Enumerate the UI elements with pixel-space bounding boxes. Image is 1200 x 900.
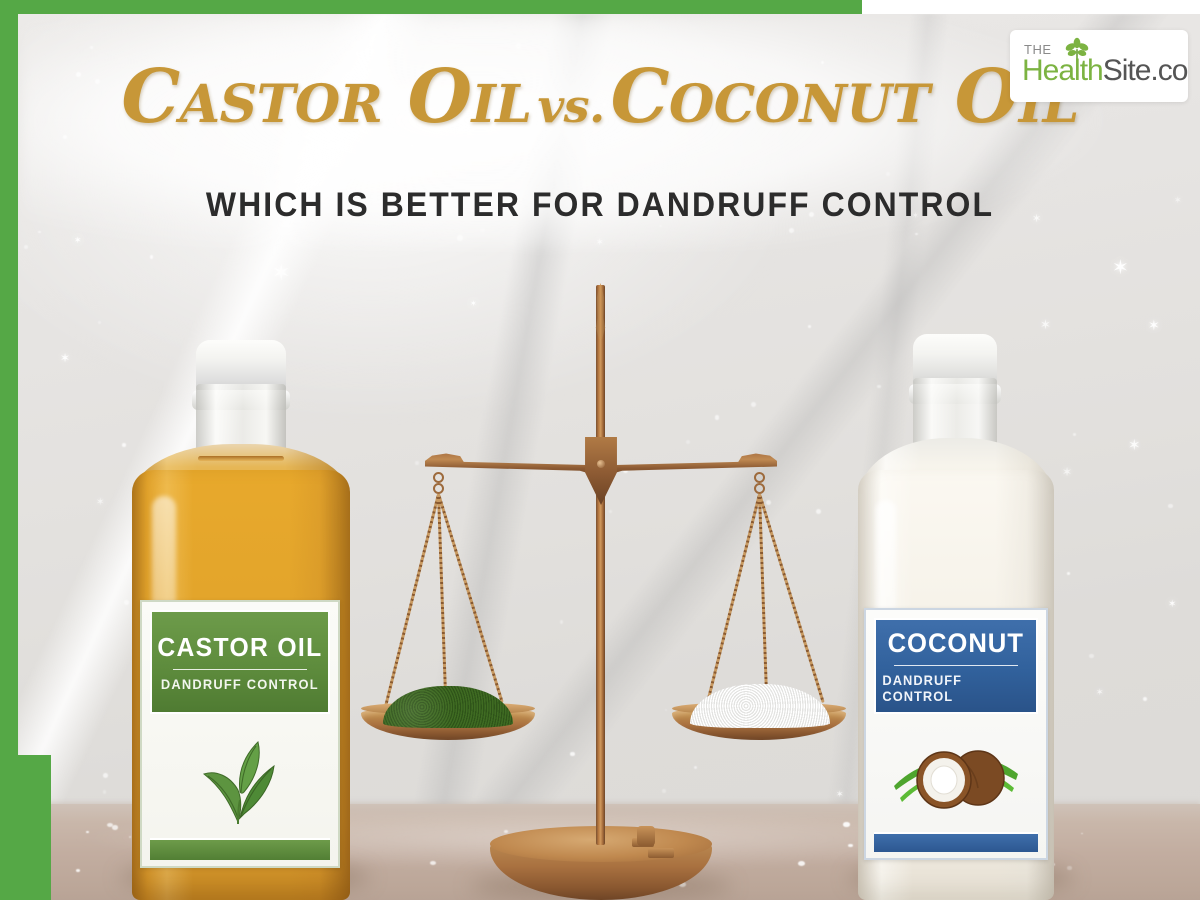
- snowflake-icon: ✶: [1128, 438, 1141, 453]
- table-crumb: [798, 861, 805, 866]
- snow-dot: [808, 325, 811, 328]
- frame-block-bottom-left: [0, 755, 51, 900]
- castor-label-footer: [150, 838, 330, 860]
- snow-dot: [715, 415, 720, 420]
- snowflake-icon: ✶: [1062, 466, 1072, 478]
- table-crumb: [430, 861, 436, 865]
- snowflake-icon: ✶: [470, 300, 477, 308]
- snow-dot: [1067, 866, 1072, 871]
- coconut-label-art: [866, 728, 1046, 814]
- coconut-product-claim: DANDRUFF CONTROL: [882, 672, 1029, 704]
- snow-dot: [1168, 504, 1173, 509]
- snow-dot: [150, 255, 153, 258]
- coconut-label-footer: [874, 832, 1038, 852]
- snow-dot: [877, 385, 880, 388]
- castor-oil-label: CASTOR OIL DANDRUFF CONTROL: [140, 600, 340, 868]
- scale-pivot-pin: [597, 460, 605, 468]
- snow-dot: [1073, 433, 1076, 436]
- table-crumb: [129, 836, 131, 838]
- scale-post: [596, 285, 605, 845]
- coconut-icon: [886, 728, 1026, 814]
- snow-dot: [766, 500, 771, 505]
- snowflake-icon: ✶: [60, 352, 70, 364]
- snowflake-icon: ✶: [836, 790, 844, 799]
- table-crumb: [848, 844, 853, 848]
- castor-label-header: CASTOR OIL DANDRUFF CONTROL: [150, 610, 330, 714]
- snowflake-icon: ✶: [1112, 258, 1129, 278]
- snow-dot: [665, 709, 668, 712]
- site-logo[interactable]: THE HealthSite.com: [1010, 30, 1188, 102]
- coconut-label-header: COCONUT DANDRUFF CONTROL: [874, 618, 1038, 714]
- snow-dot: [415, 461, 419, 465]
- snowflake-icon: ✶: [1148, 318, 1160, 332]
- snow-dot: [1089, 654, 1093, 658]
- logo-wordmark: HealthSite.com: [1022, 54, 1188, 88]
- snow-dot: [609, 510, 612, 513]
- snow-dot: [570, 752, 575, 757]
- castor-product-name: CASTOR OIL: [157, 632, 322, 663]
- castor-oil-surface: [198, 456, 284, 461]
- snow-dot: [103, 773, 108, 778]
- snowflake-icon: ✶: [1174, 196, 1182, 205]
- snow-dot: [122, 443, 126, 447]
- snowflake-icon: ✶: [1040, 318, 1051, 331]
- scale-weight-3: [637, 826, 655, 846]
- table-crumb: [112, 825, 118, 829]
- leaf-icon: [186, 730, 294, 830]
- snow-dot: [1143, 697, 1147, 701]
- castor-product-claim: DANDRUFF CONTROL: [161, 676, 319, 692]
- scale-ring-left-b: [433, 483, 444, 494]
- snow-dot: [816, 509, 821, 514]
- coconut-label-divider: [894, 665, 1019, 666]
- scale-ring-right-b: [754, 483, 765, 494]
- castor-label-art: [142, 730, 338, 830]
- table-crumb: [1081, 833, 1083, 834]
- snow-dot: [1067, 572, 1070, 575]
- snow-dot: [686, 440, 690, 444]
- table-crumb: [76, 869, 80, 872]
- snow-dot: [560, 620, 564, 624]
- castor-label-divider: [173, 669, 307, 670]
- snow-dot: [124, 600, 129, 605]
- snowflake-icon: ✶: [272, 262, 290, 284]
- title-vs: vs.: [531, 79, 610, 133]
- snowflake-icon: ✶: [1096, 688, 1104, 697]
- scale-ring-left-a: [433, 472, 444, 483]
- table-crumb: [504, 830, 508, 833]
- page-subtitle: WHICH IS BETTER FOR DANDRUFF CONTROL: [36, 186, 1164, 225]
- snow-dot: [694, 766, 697, 769]
- title-part-one: Castor Oil: [121, 54, 531, 140]
- scale-ring-right-a: [754, 472, 765, 483]
- snow-dot: [662, 789, 666, 793]
- table-crumb: [86, 831, 89, 833]
- frame-bar-left: [0, 0, 18, 760]
- coconut-product-name: COCONUT: [888, 628, 1024, 659]
- snow-dot: [103, 790, 106, 793]
- snow-dot: [98, 321, 101, 324]
- logo-health-text: Health: [1022, 54, 1103, 87]
- snowflake-icon: ✶: [1168, 600, 1176, 610]
- frame-bar-top: [0, 0, 862, 14]
- table-crumb: [843, 822, 849, 826]
- scale-weight-2: [648, 848, 674, 858]
- logo-site-text: Site.com: [1103, 54, 1188, 87]
- snow-dot: [751, 402, 756, 407]
- poster-canvas: ✶✶✶✶✶✶✶✶✶✶✶✶✶✶✶✶✶✶✶✶ CASTOR OIL DA: [0, 0, 1200, 900]
- snowflake-icon: ✶: [96, 498, 104, 508]
- coconut-oil-label: COCONUT DANDRUFF CONTROL: [864, 608, 1048, 860]
- title-part-two: Coconut Oil: [611, 54, 1079, 140]
